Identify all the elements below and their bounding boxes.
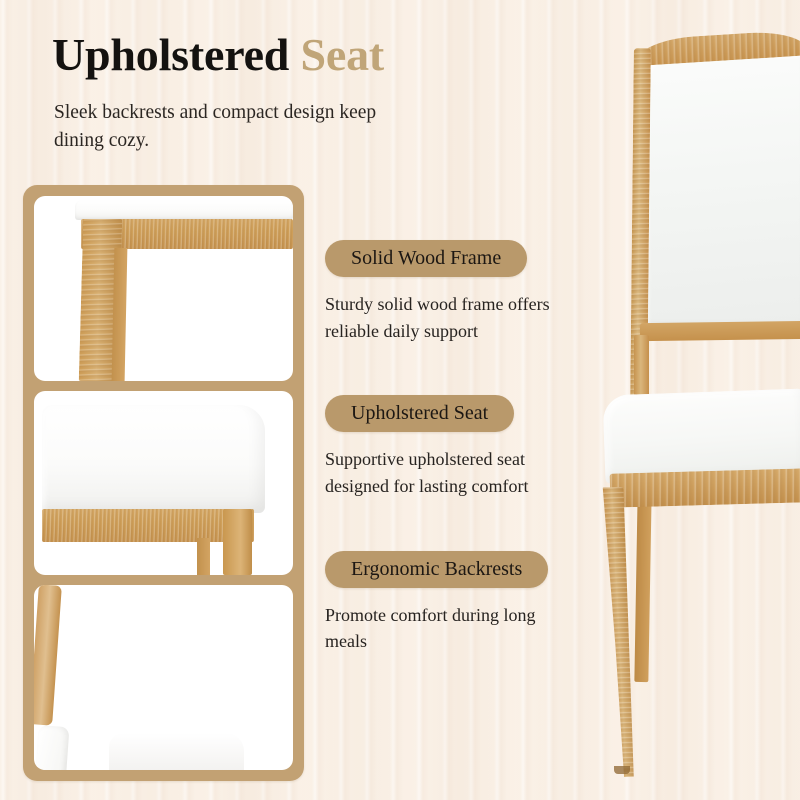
gallery-photo-upholstered-seat-cushion-detail [34, 391, 293, 576]
feature-list: Solid Wood Frame Sturdy solid wood frame… [325, 240, 575, 655]
feature-description: Promote comfort during long meals [325, 602, 565, 655]
product-infographic: Upholstered Seat Sleek backrests and com… [0, 0, 800, 800]
feature-badge-upholstered-seat: Upholstered Seat [325, 395, 514, 432]
seat-cushion [42, 405, 265, 512]
front-leg [601, 487, 638, 777]
backrest-upholstery-panel [646, 55, 800, 327]
page-title: Upholstered Seat [52, 30, 384, 81]
page-title-accent: Seat [301, 29, 385, 80]
page-subtitle: Sleek backrests and compact design keep … [54, 99, 414, 154]
seat-cushion-edge [75, 200, 293, 220]
gallery-photo-chair-leg-and-apron-detail [34, 196, 293, 381]
chair-rear-leg [112, 248, 128, 381]
backrest-frame [34, 585, 62, 726]
feature-description: Sturdy solid wood frame offers reliable … [325, 291, 565, 344]
page-title-primary: Upholstered [52, 29, 289, 80]
backrest-pad [34, 725, 70, 770]
seat-cushion [109, 733, 244, 770]
feature-badge-ergonomic-backrests: Ergonomic Backrests [325, 551, 548, 588]
gallery-photo-backrest-side-profile-detail [34, 585, 293, 770]
rear-leg [634, 492, 651, 682]
dining-chair-hero-image [588, 0, 800, 800]
backrest-bottom-rail [640, 321, 800, 341]
rear-leg [197, 538, 210, 575]
feature-badge-solid-wood-frame: Solid Wood Frame [325, 240, 527, 277]
seat-apron-rail [610, 468, 800, 508]
detail-photo-gallery [23, 185, 304, 781]
feature-description: Supportive upholstered seat designed for… [325, 446, 565, 499]
feature-item: Upholstered Seat Supportive upholstered … [325, 395, 575, 499]
feature-item: Ergonomic Backrests Promote comfort duri… [325, 551, 575, 655]
back-post [223, 509, 251, 575]
feature-item: Solid Wood Frame Sturdy solid wood frame… [325, 240, 575, 344]
leg-foot-cap [614, 766, 630, 774]
